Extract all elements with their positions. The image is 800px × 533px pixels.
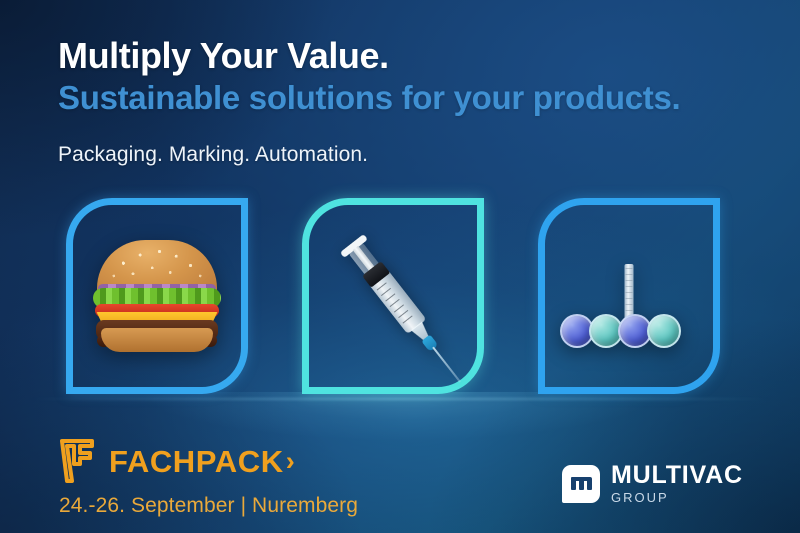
syringe-graphic [309, 205, 477, 387]
headline-primary: Multiply Your Value. [58, 36, 758, 76]
m-stroke [587, 480, 592, 490]
fachpack-wordmark: FACHPACK › [109, 446, 295, 477]
blister-pack-image [545, 205, 713, 387]
multivac-m-glyph [571, 477, 592, 490]
fachpack-logo-block: FACHPACK › 24.-26. September | Nuremberg [58, 437, 358, 518]
fachpack-name: FACHPACK [109, 446, 284, 477]
burger-graphic [93, 240, 221, 352]
chevron-right-icon: › [286, 448, 296, 475]
fachpack-details: 24.-26. September | Nuremberg [59, 494, 358, 518]
tile-medical [302, 198, 484, 394]
blister-capsule-strip [560, 314, 676, 348]
multivac-wordmark: MULTIVAC GROUP [611, 463, 743, 504]
headline-block: Multiply Your Value. Sustainable solutio… [58, 36, 758, 118]
multivac-logo-block: MULTIVAC GROUP [562, 463, 743, 504]
m-stroke [571, 477, 576, 490]
fachpack-flag-icon [58, 437, 98, 485]
tagline: Packaging. Marking. Automation. [58, 143, 368, 167]
burger-bun-bottom [101, 328, 213, 352]
promotional-banner: Multiply Your Value. Sustainable solutio… [0, 0, 800, 533]
tile-pharma [538, 198, 720, 394]
blister-pack-graphic [554, 236, 704, 356]
product-tiles [0, 198, 800, 400]
syringe-needle [432, 347, 461, 383]
fachpack-logo-row: FACHPACK › [58, 437, 358, 485]
blister-capsule [647, 314, 681, 348]
headline-secondary: Sustainable solutions for your products. [58, 79, 758, 118]
multivac-subtitle: GROUP [611, 491, 743, 504]
burger-image [73, 205, 241, 387]
multivac-name: MULTIVAC [611, 463, 743, 488]
syringe-image [309, 205, 477, 387]
multivac-m-mark-icon [562, 465, 600, 503]
tile-food [66, 198, 248, 394]
m-stroke [579, 480, 584, 490]
